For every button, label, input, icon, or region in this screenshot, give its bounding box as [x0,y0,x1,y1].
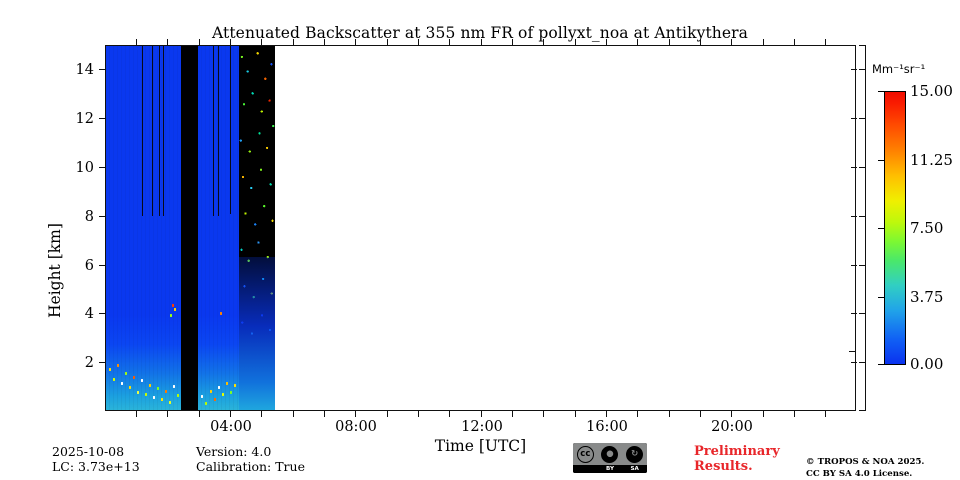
cc-badge-sa-label: SA [622,466,647,472]
aerosol-speckle [141,379,143,382]
colorbar-spine-tick [859,265,866,266]
copyright-line-2: CC BY SA 4.0 License. [806,469,924,480]
preliminary-line-1: Preliminary [694,444,780,459]
sa-share-alike-icon: ↻ [626,446,643,463]
aerosol-speckle [234,384,236,387]
footer-lidar-constant: LC: 3.73e+13 [52,459,140,474]
colorbar-gradient [884,91,906,365]
colorbar-tick [878,91,884,92]
colorbar-unit-text: Mm⁻¹sr⁻¹ [872,62,925,76]
aerosol-speckle [218,386,220,389]
aerosol-speckle [205,402,207,405]
heatmap-data-layer [106,46,855,410]
aerosol-speckle [165,390,167,393]
colorbar-spine-tick [859,313,866,314]
aerosol-speckle [113,378,115,381]
x-tick-label: 08:00 [335,419,377,435]
aerosol-speckle [129,386,131,389]
colorbar-tick-label: 11.25 [910,151,953,169]
preliminary-line-2: Results. [694,459,780,474]
colorbar-spine-tick [859,216,866,217]
aerosol-speckle [153,396,155,399]
by-person-icon: ● [601,446,618,463]
colorbar-tick [878,297,884,298]
copyright-line-1: © TROPOS & NOA 2025. [806,457,924,469]
measurement-gap [181,46,198,410]
colorbar-spine-tick [859,69,866,70]
x-tick-label: 16:00 [586,419,628,435]
colorbar-tick [878,160,884,161]
aerosol-speckle [230,391,232,394]
aerosol-speckle [117,364,119,367]
figure-canvas: Attenuated Backscatter at 355 nm FR of p… [0,0,960,480]
colorbar-spine-tick [859,45,866,46]
footer-version: Version: 4.0 [196,444,271,459]
colorbar-tick-label: 0.00 [910,355,943,373]
aerosol-speckle [220,312,222,315]
cc-by-sa-license-badge[interactable]: cc ● ↻ BY SA [573,443,647,473]
heatmap-axes[interactable] [105,45,856,411]
artifact-stripe [142,46,143,216]
footer-calibration: Calibration: True [196,459,305,474]
aerosol-speckle [170,314,172,317]
colorbar-tick-label: 15.00 [910,82,953,100]
y-tick-label: 8 [76,209,94,225]
colorbar-spine-tick [859,410,866,411]
aerosol-speckle [149,384,151,387]
aerosol-speckle [125,372,127,375]
copyright-notice: © TROPOS & NOA 2025. CC BY SA 4.0 Licens… [806,457,924,480]
colorbar-axes-spine [865,45,866,411]
y-tick-label: 4 [76,306,94,322]
aerosol-speckle [201,395,203,398]
aerosol-speckle [161,398,163,401]
cc-icon: cc [577,446,594,463]
colorbar-tick-label: 7.50 [910,219,943,237]
y-tick-label: 10 [67,160,94,176]
colorbar[interactable]: 15.00 11.25 7.50 3.75 0.00 [884,91,906,365]
aerosol-speckle [210,390,212,393]
x-tick-label: 12:00 [461,419,503,435]
cc-badge-icons: cc ● ↻ [573,443,647,465]
colorbar-unit-label: Mm⁻¹sr⁻¹ [872,62,925,76]
aerosol-speckle [109,368,111,371]
aerosol-speckle [174,308,176,311]
aerosol-speckle [177,394,179,397]
y-tick-label: 2 [76,355,94,371]
y-axis-label: Height [km] [46,223,64,318]
artifact-stripe [213,46,214,216]
aerosol-speckle [137,391,139,394]
footer-date: 2025-10-08 [52,444,124,459]
data-segment-1 [106,46,181,410]
artifact-stripe [163,46,164,216]
aerosol-speckle [173,385,175,388]
y-tick-label: 12 [67,111,94,127]
axis-tick-right [849,351,856,352]
colorbar-tick [878,228,884,229]
colorbar-spine-tick [859,167,866,168]
x-tick-label: 20:00 [711,419,753,435]
aerosol-speckle [214,398,216,401]
y-tick-label: 14 [67,62,94,78]
y-tick-label: 6 [76,258,94,274]
artifact-stripe [230,46,231,214]
artifact-stripe [159,46,160,216]
data-segment-3-noise [239,46,275,410]
colorbar-spine-tick [859,362,866,363]
cc-badge-by-label: BY [598,466,623,472]
aerosol-speckle [222,393,224,396]
colorbar-tick-label: 3.75 [910,288,943,306]
x-tick-label: 04:00 [210,419,252,435]
aerosol-speckle [133,376,135,379]
aerosol-speckle [157,387,159,390]
aerosol-speckle [169,401,171,404]
aerosol-speckle [121,382,123,385]
aerosol-speckle [226,382,228,385]
aerosol-speckle [145,393,147,396]
cc-badge-labels: BY SA [573,465,647,473]
artifact-stripe [152,46,153,216]
aerosol-speckle [172,304,174,307]
page-title: Attenuated Backscatter at 355 nm FR of p… [0,24,960,42]
colorbar-spine-tick [859,118,866,119]
artifact-stripe [218,46,219,216]
colorbar-tick [878,364,884,365]
preliminary-results-notice: Preliminary Results. [694,444,780,475]
